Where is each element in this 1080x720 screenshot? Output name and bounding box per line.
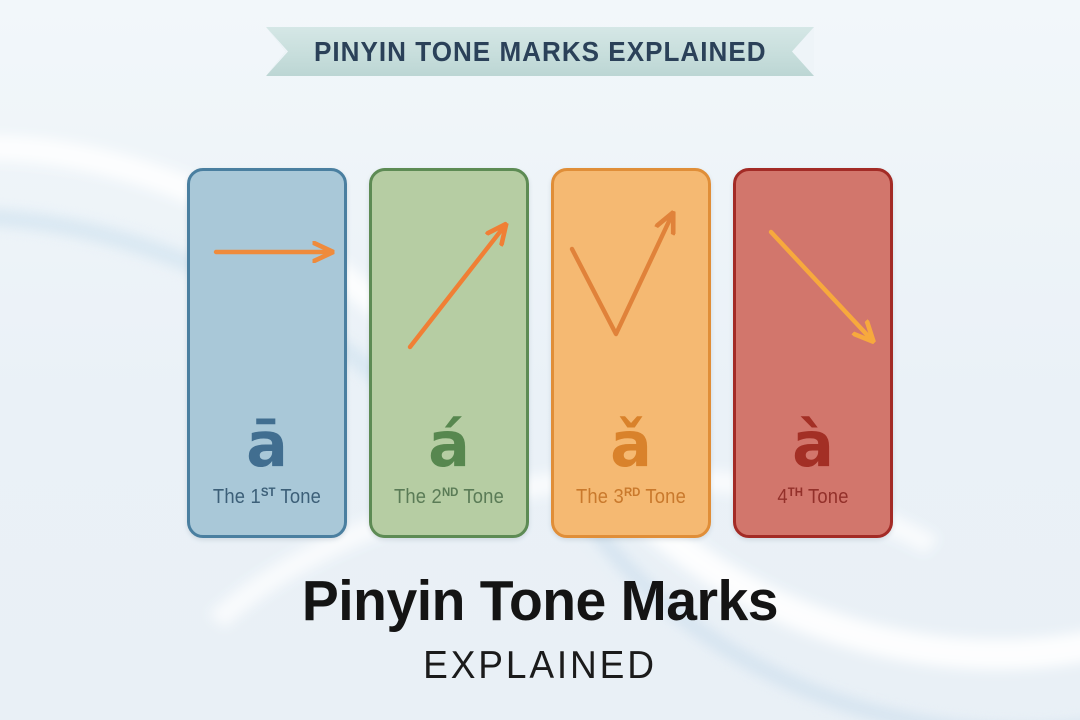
page-title: Pinyin Tone Marks [16,572,1064,632]
tone-card-label: The 1ST Tone [196,485,338,509]
footer-titles: Pinyin Tone Marks EXPLAINED [0,572,1080,688]
tone-glyph: á [372,416,526,475]
flat-right-arrow-icon [190,171,344,396]
tone-card-body: áThe 2ND Tone [372,416,526,509]
banner-container: PINYIN TONE MARKS EXPLAINED [0,27,1080,76]
falling-rising-v-arrow-icon [554,171,708,396]
tone-glyph: ā [190,416,344,475]
tone-label-prefix: The 1 [213,486,261,508]
tone-label-prefix: The 2 [394,486,442,508]
tone-label-ordinal: ND [442,485,458,499]
tone-label-prefix: The 3 [576,486,624,508]
tone-card: à4TH Tone [733,168,893,538]
tone-label-suffix: Tone [275,486,321,508]
tone-label-ordinal: RD [624,485,640,499]
tone-card-label: 4TH Tone [742,485,884,509]
rising-diagonal-arrow-icon [372,171,526,396]
tone-cards-row: āThe 1ST ToneáThe 2ND ToneǎThe 3RD Toneà… [0,168,1080,538]
tone-card-body: à4TH Tone [736,416,890,509]
ribbon-banner: PINYIN TONE MARKS EXPLAINED [266,27,814,76]
tone-card-label: The 3RD Tone [560,485,702,509]
tone-label-ordinal: TH [788,485,803,499]
tone-glyph: à [736,416,890,475]
tone-label-prefix: 4 [777,486,787,508]
tone-glyph: ǎ [554,416,708,475]
tone-card: āThe 1ST Tone [187,168,347,538]
falling-diagonal-arrow-icon [736,171,890,396]
tone-card-body: ǎThe 3RD Tone [554,416,708,509]
tone-card: áThe 2ND Tone [369,168,529,538]
tone-card-body: āThe 1ST Tone [190,416,344,509]
page-subtitle: EXPLAINED [27,644,1053,688]
infographic-poster: PINYIN TONE MARKS EXPLAINED āThe 1ST Ton… [0,0,1080,720]
banner-title: PINYIN TONE MARKS EXPLAINED [314,36,767,68]
tone-card: ǎThe 3RD Tone [551,168,711,538]
tone-card-label: The 2ND Tone [378,485,520,509]
tone-label-suffix: Tone [640,486,686,508]
tone-label-ordinal: ST [261,485,276,499]
tone-label-suffix: Tone [803,486,849,508]
tone-label-suffix: Tone [458,486,504,508]
